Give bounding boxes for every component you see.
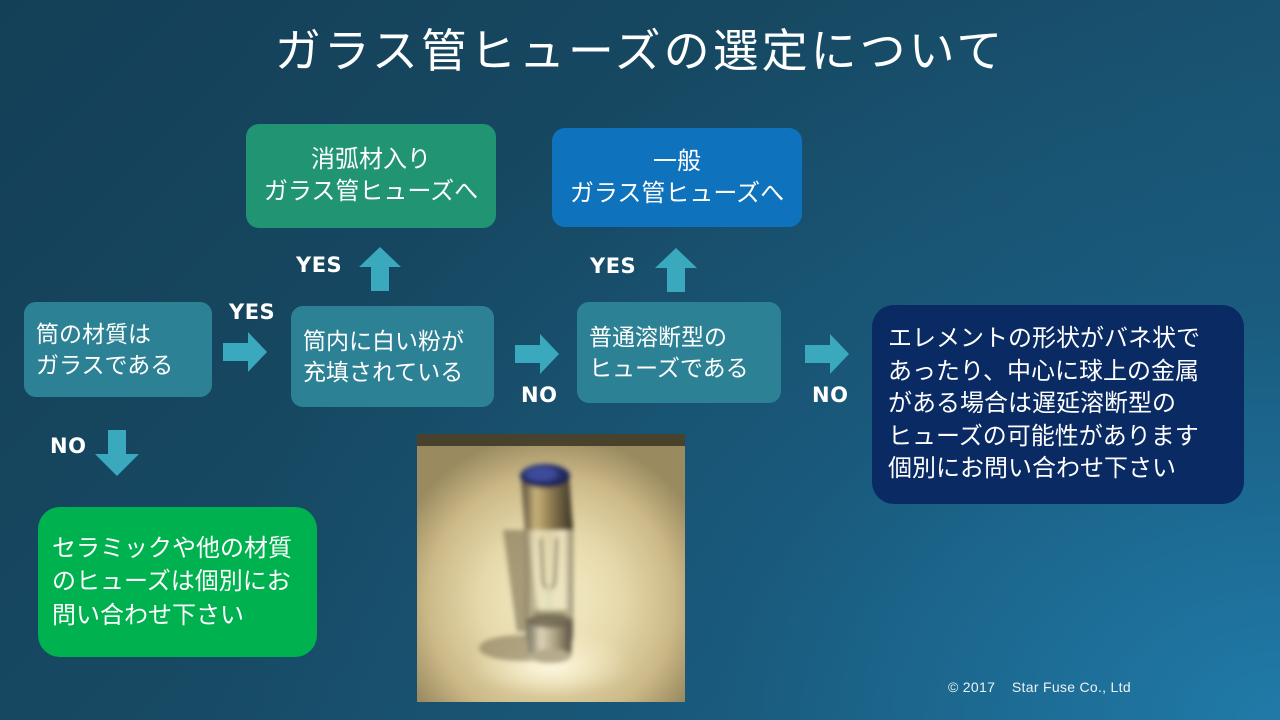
arrow-right-icon-q1-q2 [221, 330, 269, 374]
arrow-up-icon-q3-general [653, 246, 699, 294]
result-general-line1: 一般 [558, 146, 796, 178]
result-ceramic-line1: セラミックや他の材質 [52, 532, 303, 566]
decision-box-material-is-glass[interactable]: 筒の材質は ガラスである [24, 302, 212, 397]
result-delay-line1: エレメントの形状がバネ状で [888, 323, 1228, 356]
decision-q2-line2: 充填されている [303, 357, 482, 387]
result-delay-line3: がある場合は遅延溶断型の [888, 388, 1228, 421]
decision-q3-line2: ヒューズである [589, 353, 769, 383]
copyright-footer: © 2017 Star Fuse Co., Ltd [948, 679, 1131, 695]
result-delay-line5: 個別にお問い合わせ下さい [888, 453, 1228, 486]
decision-box-white-powder-filled[interactable]: 筒内に白い粉が 充填されている [291, 306, 494, 407]
flag-yes-q3-to-general: YES [590, 254, 636, 278]
result-arc-line1: 消弧材入り [252, 144, 490, 176]
result-box-ceramic-other-material[interactable]: セラミックや他の材質 のヒューズは個別にお 問い合わせ下さい [38, 507, 317, 657]
flag-no-q2-to-q3: NO [521, 383, 557, 407]
result-box-general[interactable]: 一般 ガラス管ヒューズへ [552, 128, 802, 227]
slide-canvas: ガラス管ヒューズの選定について 消弧材入り ガラス管ヒューズへ 一般 ガラス管ヒ… [0, 0, 1280, 720]
result-ceramic-line2: のヒューズは個別にお [52, 565, 303, 599]
result-delay-line4: ヒューズの可能性があります [888, 421, 1228, 454]
flag-no-q3-to-delay: NO [812, 383, 848, 407]
arrow-up-icon-q2-arc [357, 245, 403, 293]
decision-box-normal-blow-type[interactable]: 普通溶断型の ヒューズである [577, 302, 781, 403]
flag-yes-q2-to-arc: YES [296, 253, 342, 277]
result-ceramic-line3: 問い合わせ下さい [52, 599, 303, 633]
result-arc-line2: ガラス管ヒューズへ [252, 176, 490, 208]
result-delay-line2: あったり、中心に球上の金属 [888, 356, 1228, 389]
arrow-right-icon-q2-q3 [513, 332, 561, 376]
decision-q1-line1: 筒の材質は [36, 319, 200, 349]
decision-q1-line2: ガラスである [36, 350, 200, 380]
decision-q3-line1: 普通溶断型の [589, 322, 769, 352]
page-title: ガラス管ヒューズの選定について [0, 24, 1280, 79]
arrow-down-icon-q1-ceramic [93, 428, 141, 478]
result-general-line2: ガラス管ヒューズへ [558, 178, 796, 210]
decision-q2-line1: 筒内に白い粉が [303, 326, 482, 356]
result-box-time-delay-fuse[interactable]: エレメントの形状がバネ状で あったり、中心に球上の金属 がある場合は遅延溶断型の… [872, 305, 1244, 504]
flag-no-q1-to-ceramic: NO [50, 434, 86, 458]
glass-tube-fuse-photo [417, 434, 685, 702]
arrow-right-icon-q3-delay [803, 332, 851, 376]
flag-yes-q1-to-q2: YES [229, 300, 275, 324]
result-box-arc-extinguishing[interactable]: 消弧材入り ガラス管ヒューズへ [246, 124, 496, 228]
